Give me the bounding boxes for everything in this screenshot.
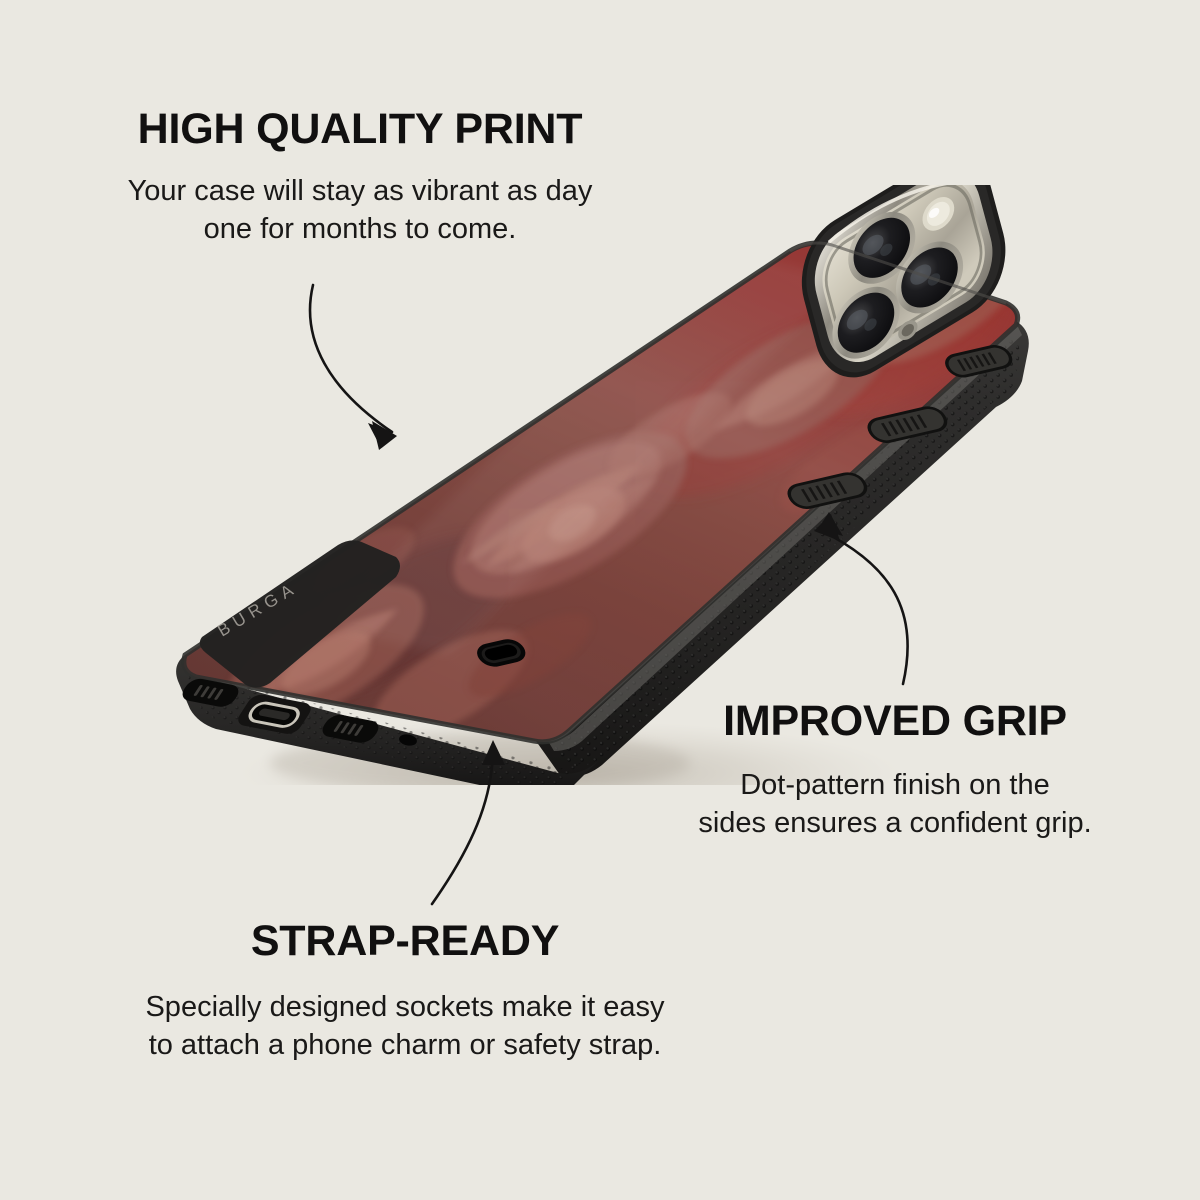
phone-case-product-image: BURGA bbox=[150, 185, 1070, 785]
feature-improved-grip: IMPROVED GRIP Dot-pattern finish on the … bbox=[660, 700, 1130, 842]
feature-body-line: Your case will stay as vibrant as day bbox=[60, 173, 660, 211]
feature-heading-strap-ready: STRAP-READY bbox=[80, 920, 730, 963]
feature-heading-high-quality-print: HIGH QUALITY PRINT bbox=[60, 108, 660, 151]
feature-body-strap-ready: Specially designed sockets make it easy … bbox=[80, 989, 730, 1064]
feature-body-line: to attach a phone charm or safety strap. bbox=[80, 1027, 730, 1065]
phone-render: BURGA bbox=[150, 185, 1070, 785]
feature-body-improved-grip: Dot-pattern finish on the sides ensures … bbox=[660, 767, 1130, 842]
feature-strap-ready: STRAP-READY Specially designed sockets m… bbox=[80, 920, 730, 1064]
feature-high-quality-print: HIGH QUALITY PRINT Your case will stay a… bbox=[60, 108, 660, 248]
feature-body-high-quality-print: Your case will stay as vibrant as day on… bbox=[60, 173, 660, 248]
feature-body-line: one for months to come. bbox=[60, 211, 660, 249]
feature-body-line: Dot-pattern finish on the bbox=[660, 767, 1130, 805]
product-feature-graphic: BURGA HIGH QUALITY PRINT Your case bbox=[0, 0, 1200, 1200]
feature-body-line: Specially designed sockets make it easy bbox=[80, 989, 730, 1027]
feature-body-line: sides ensures a confident grip. bbox=[660, 805, 1130, 843]
feature-heading-improved-grip: IMPROVED GRIP bbox=[660, 700, 1130, 743]
